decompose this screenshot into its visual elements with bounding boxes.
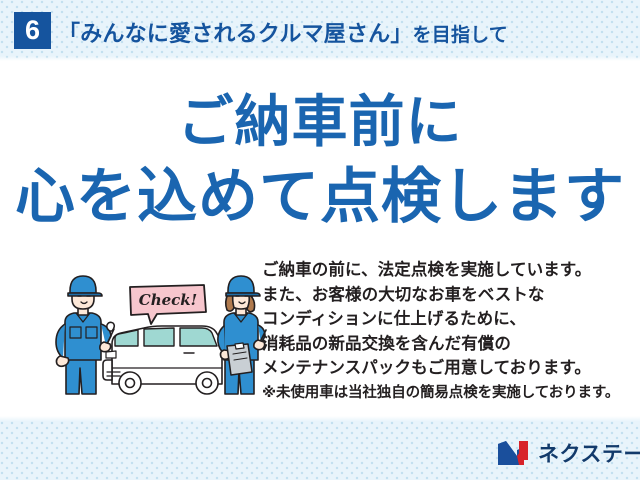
mechanics-illustration: Check!: [52, 272, 272, 400]
body-line: また、お客様の大切なお車をベストな: [262, 283, 630, 308]
header-title-tail: を目指して: [413, 25, 508, 46]
body-line: ご納車の前に、法定点検を実施しています。: [262, 258, 630, 283]
advertisement-page: 6 「みんなに愛されるクルマ屋さん」を目指して ご納車前に 心を込めて点検します: [0, 0, 640, 480]
nextage-n-mark-icon: [497, 440, 531, 466]
nextage-logo-text: ネクステージ: [538, 438, 640, 468]
check-bubble-label: Check!: [139, 291, 198, 309]
nextage-logo: ネクステージ: [497, 438, 640, 468]
right-mechanic: [218, 276, 266, 394]
headline-line-2: 心を込めて点検します: [0, 165, 640, 229]
header-title-main: 「みんなに愛されるクルマ屋さん」: [58, 21, 413, 46]
section-number-badge: 6: [14, 12, 51, 49]
van-illustration: [103, 326, 222, 394]
body-note: ※未使用車は当社独自の簡易点検を実施しております。: [262, 382, 630, 405]
headline-line-1: ご納車前に: [0, 93, 640, 153]
header-title: 「みんなに愛されるクルマ屋さん」を目指して: [58, 16, 508, 48]
body-line: コンディションに仕上げるために、: [262, 307, 630, 332]
body-line: 消耗品の新品交換を含んだ有償の: [262, 332, 630, 357]
body-line: メンテナンスパックもご用意しております。: [262, 356, 630, 381]
body-copy-block: ご納車の前に、法定点検を実施しています。 また、お客様の大切なお車をベストな コ…: [262, 258, 630, 405]
